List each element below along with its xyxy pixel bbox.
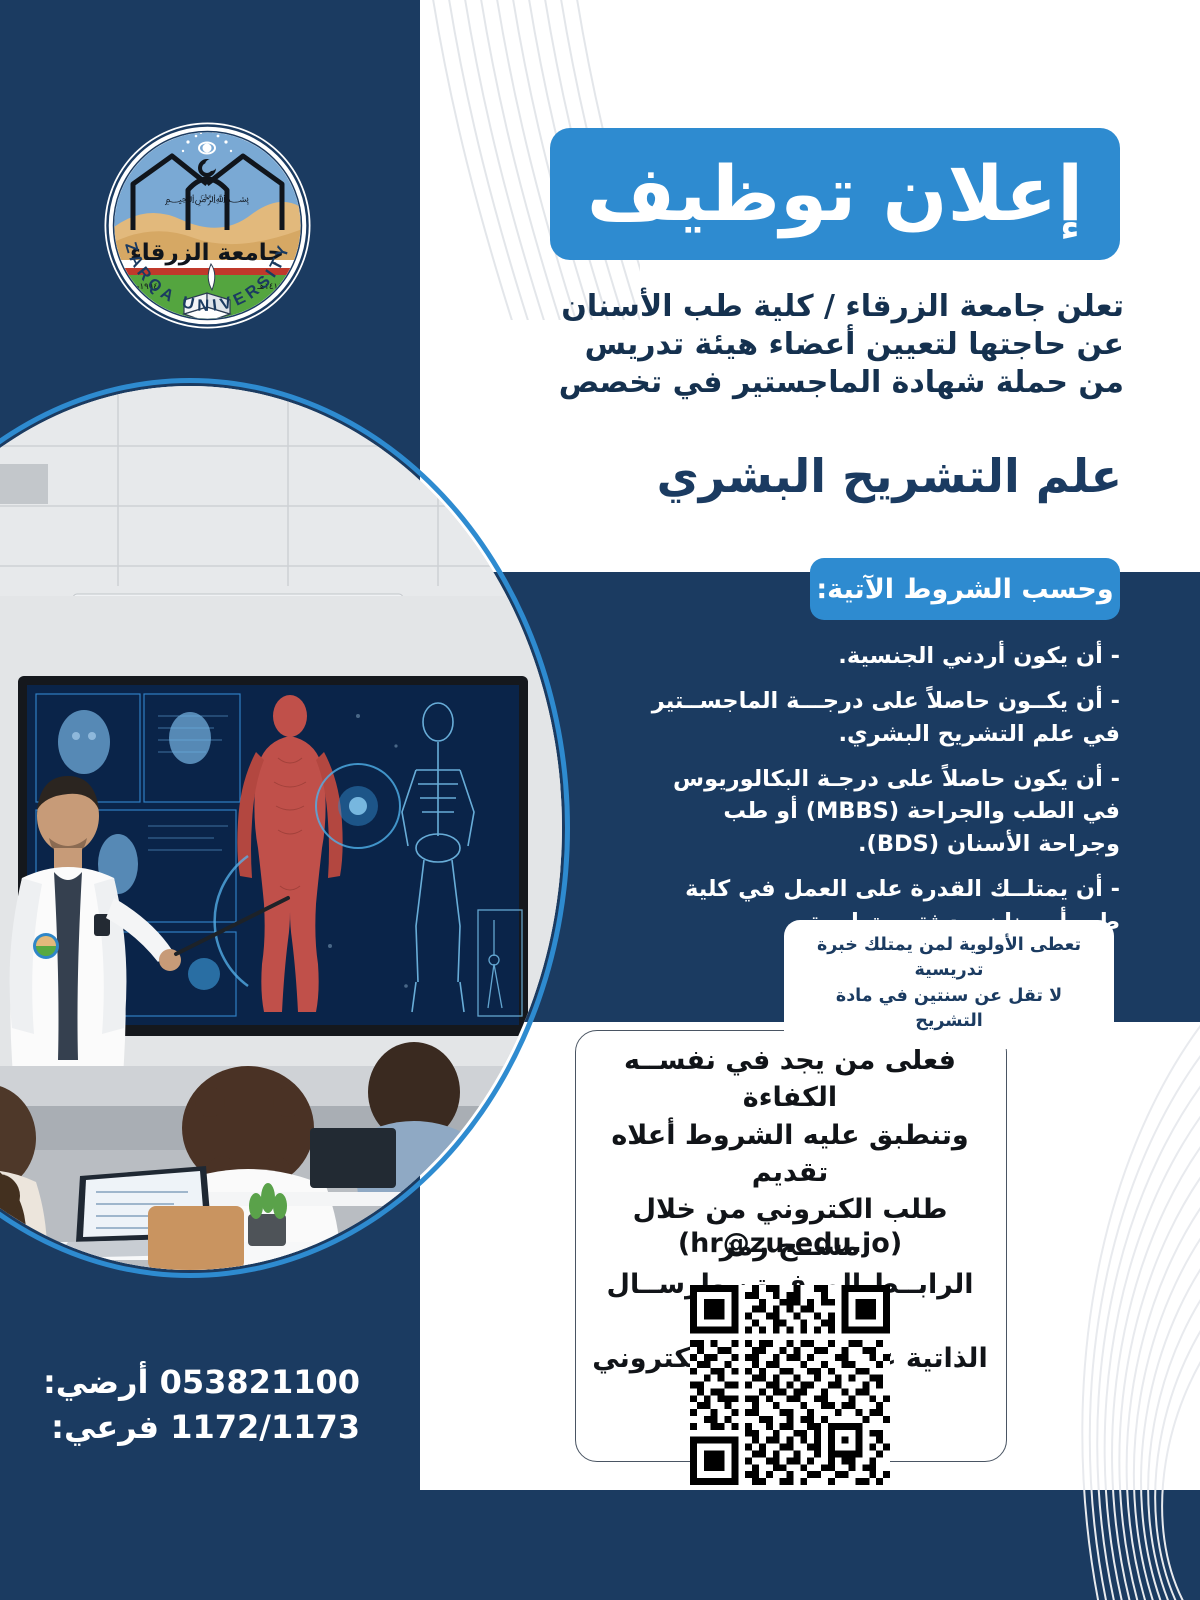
condition-item: - أن يكون حاصلاً على درجـة البكالوريوس ف… [640,763,1120,862]
announcement-title-text: إعلان توظيف [587,156,1083,232]
priority-note-box: تعطى الأولوية لمن يمتلك خبرة تدريسية لا … [784,920,1114,1049]
contact-phones: 053821100 أرضي: 1172/1173 فرعي: [60,1360,360,1451]
priority-note-line-1: تعطى الأولوية لمن يمتلك خبرة تدريسية [800,933,1098,984]
intro-line-1: تعلن جامعة الزرقاء / كلية طب الأسنان [544,288,1124,326]
specialty-title: علم التشريح البشري [542,450,1122,503]
apply-line-1: فعلى من يجد في نفســه الكفاءة [589,1042,991,1117]
landline-label: أرضي: [43,1363,148,1401]
condition-item: - أن يكون أردني الجنسية. [640,640,1120,673]
recruitment-poster: ﷽ جامعة الزرقاء ١٩٩٤م ١٤١٥هـ [0,0,1200,1600]
svg-text:﷽: ﷽ [165,192,250,207]
extension-label: فرعي: [51,1408,159,1446]
landline-number: 053821100 [160,1363,360,1401]
background-navy-bottom-bar [0,1490,1200,1600]
conditions-badge: وحسب الشروط الآتية: [810,558,1120,620]
intro-paragraph: تعلن جامعة الزرقاء / كلية طب الأسنان عن … [544,288,1124,401]
intro-line-2: عن حاجتها لتعيين أعضاء هيئة تدريس [544,326,1124,364]
conditions-ul: - أن يكون أردني الجنسية. - أن يكــون حاص… [640,640,1120,939]
landline-row: 053821100 أرضي: [60,1360,360,1405]
photo-illustration [0,386,562,1270]
conditions-list: - أن يكون أردني الجنسية. - أن يكــون حاص… [640,640,1120,951]
condition-item: - أن يكــون حاصلاً على درجـــة الماجســت… [640,685,1120,751]
extension-number: 1172/1173 [170,1408,360,1446]
announcement-title-badge: إعلان توظيف [550,128,1120,260]
qr-code[interactable] [690,1285,890,1485]
svg-text:جامعة الزرقاء: جامعة الزرقاء [130,240,284,266]
conditions-badge-text: وحسب الشروط الآتية: [816,574,1113,605]
intro-line-3: من حملة شهادة الماجستير في تخصص [544,364,1124,402]
priority-note-line-2: لا تقل عن سنتين في مادة التشريح [800,984,1098,1035]
classroom-photo [0,378,570,1278]
extension-row: 1172/1173 فرعي: [60,1405,360,1450]
apply-line-2: وتنطبق عليه الشروط أعلاه تقديم [589,1117,991,1192]
university-logo-icon: ﷽ جامعة الزرقاء ١٩٩٤م ١٤١٥هـ [100,118,315,333]
contact-email[interactable]: (hr@zu.edu.jo) [575,1228,1005,1259]
photo-clip [0,386,562,1270]
